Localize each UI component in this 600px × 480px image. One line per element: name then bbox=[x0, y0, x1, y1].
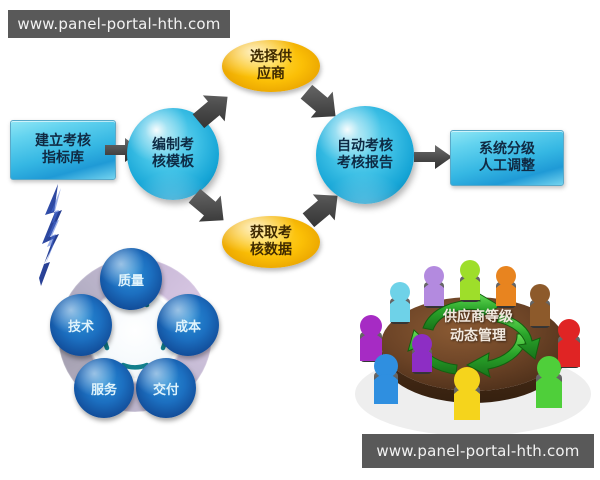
person-yellow-group bbox=[454, 367, 480, 420]
person-cyan-group bbox=[390, 282, 410, 324]
arrow-report-to-end-icon bbox=[412, 143, 454, 171]
wheel-node-service-label: 服务 bbox=[91, 379, 117, 398]
flow-data-line2: 核数据 bbox=[250, 242, 292, 259]
person-brown-group bbox=[530, 284, 550, 328]
watermark-bottom: www.panel-portal-hth.com bbox=[362, 434, 594, 468]
flow-end-box[interactable]: 系统分级 人工调整 bbox=[450, 130, 564, 186]
flow-report-line1: 自动考核 bbox=[337, 138, 393, 155]
wheel-node-technology[interactable]: 技术 bbox=[50, 294, 112, 356]
meeting-illustration bbox=[348, 244, 598, 440]
flow-data-line1: 获取考 bbox=[250, 225, 292, 242]
arrow-template-to-data-icon bbox=[186, 186, 232, 230]
supplier-meeting-scene: 供应商等级 动态管理 bbox=[348, 244, 598, 440]
person-green-group bbox=[536, 356, 562, 408]
flow-template-line2: 核模板 bbox=[152, 154, 194, 171]
arrow-template-to-select-icon bbox=[190, 88, 236, 130]
person-orange-group bbox=[496, 266, 516, 308]
flow-select-line1: 选择供 bbox=[250, 49, 292, 66]
flow-start-box[interactable]: 建立考核 指标库 bbox=[10, 120, 116, 180]
flow-select-line2: 应商 bbox=[257, 66, 285, 83]
person-magenta-group bbox=[360, 315, 382, 362]
flow-start-box-line1: 建立考核 bbox=[35, 133, 91, 151]
person-purple-group bbox=[412, 334, 432, 374]
watermark-top: www.panel-portal-hth.com bbox=[8, 10, 230, 38]
wheel-node-service[interactable]: 服务 bbox=[74, 358, 134, 418]
diagram-canvas: www.panel-portal-hth.com 建立考核 指标库 编制考 核模… bbox=[0, 0, 600, 480]
person-violet-group bbox=[424, 266, 444, 308]
wheel-node-cost[interactable]: 成本 bbox=[157, 294, 219, 356]
wheel-node-cost-label: 成本 bbox=[175, 316, 201, 335]
flow-report-sphere[interactable]: 自动考核 考核报告 bbox=[316, 106, 414, 204]
person-blue-group bbox=[374, 354, 398, 404]
wheel-node-quality-label: 质量 bbox=[118, 270, 144, 289]
flow-end-box-line1: 系统分级 bbox=[479, 141, 535, 159]
person-red-group bbox=[558, 319, 580, 368]
flow-end-box-line2: 人工调整 bbox=[479, 158, 535, 176]
quality-wheel: 质量 成本 交付 服务 技术 bbox=[40, 248, 230, 420]
person-lime-group bbox=[460, 260, 480, 302]
wheel-node-delivery[interactable]: 交付 bbox=[136, 358, 196, 418]
wheel-node-delivery-label: 交付 bbox=[153, 379, 179, 398]
flow-template-line1: 编制考 bbox=[152, 137, 194, 154]
wheel-node-quality[interactable]: 质量 bbox=[100, 248, 162, 310]
wheel-node-technology-label: 技术 bbox=[68, 316, 94, 335]
flow-start-box-line2: 指标库 bbox=[42, 150, 84, 168]
flow-report-line2: 考核报告 bbox=[337, 155, 393, 172]
